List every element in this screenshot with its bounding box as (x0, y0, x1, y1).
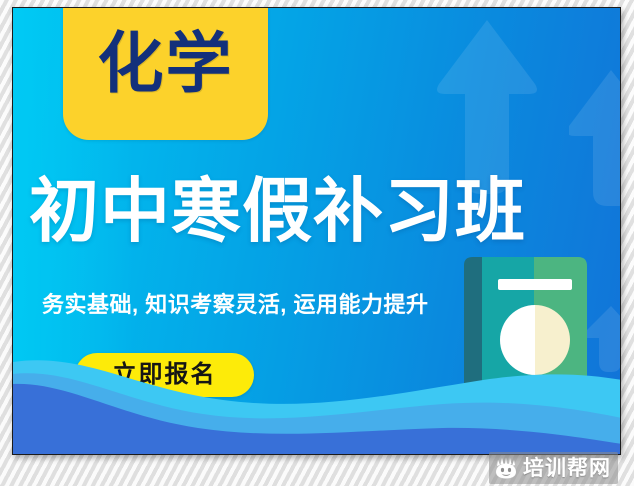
subject-badge-label: 化学 (63, 30, 268, 96)
book-illustration (456, 251, 596, 431)
enroll-now-button-label: 立即报名 (75, 353, 254, 397)
subject-badge: 化学 (63, 8, 268, 140)
banner-content-area: 化学 初中寒假补习班 务实基础, 知识考察灵活, 运用能力提升 立即报名 (13, 8, 620, 454)
course-promo-banner[interactable]: 化学 初中寒假补习班 务实基础, 知识考察灵活, 运用能力提升 立即报名 (12, 7, 621, 455)
up-arrow-icon (431, 18, 543, 198)
site-watermark-label: 培训帮网 (523, 458, 611, 479)
sun-face-icon (494, 457, 518, 479)
site-watermark: 培训帮网 (489, 452, 618, 484)
banner-headline: 初中寒假补习班 (29, 176, 609, 246)
banner-subtitle: 务实基础, 知识考察灵活, 运用能力提升 (42, 287, 428, 319)
banner-screenshot: 化学 初中寒假补习班 务实基础, 知识考察灵活, 运用能力提升 立即报名 (0, 0, 634, 486)
enroll-now-button[interactable]: 立即报名 (75, 353, 254, 397)
